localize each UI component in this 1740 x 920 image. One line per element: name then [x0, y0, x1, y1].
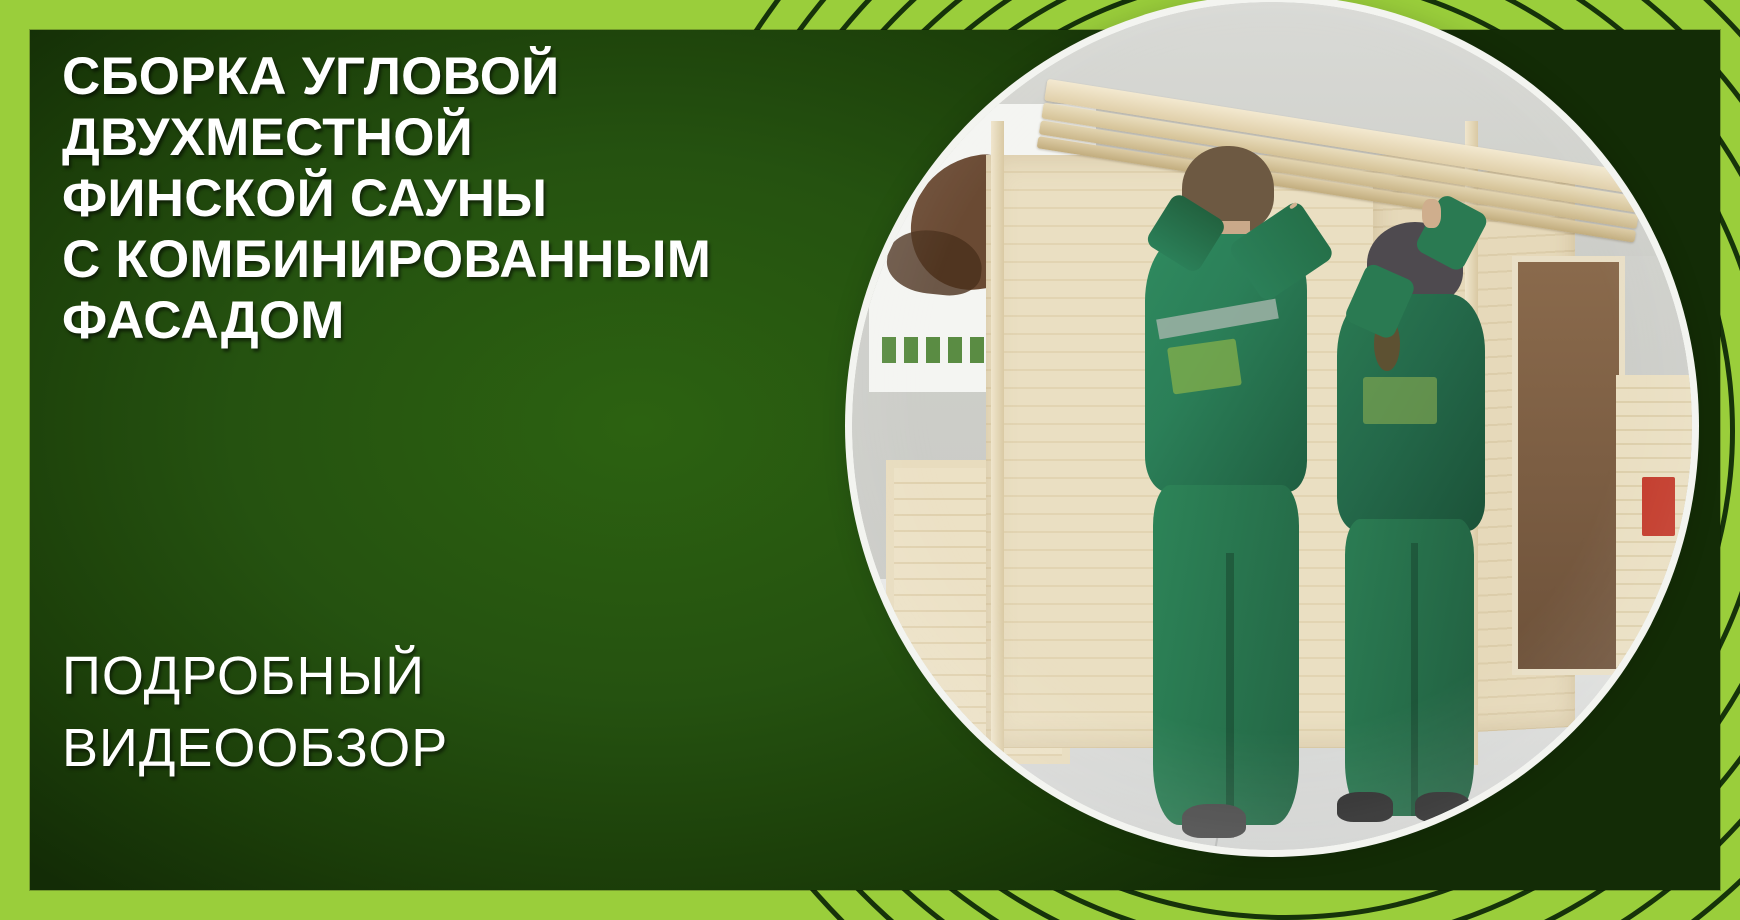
subheadline-line: ПОДРОБНЫЙ — [62, 640, 762, 712]
headline-line: СБОРКА УГЛОВОЙ — [62, 46, 822, 107]
headline-line: ДВУХМЕСТНОЙ — [62, 107, 822, 168]
subheadline: ПОДРОБНЫЙ ВИДЕООБЗОР — [62, 640, 762, 784]
headline-line: С КОМБИНИРОВАННЫМ — [62, 229, 822, 290]
photo-scene — [852, 2, 1692, 850]
photo-circle — [852, 2, 1692, 850]
headline-line: ФИНСКОЙ САУНЫ — [62, 168, 822, 229]
thumbnail-canvas: СБОРКА УГЛОВОЙ ДВУХМЕСТНОЙ ФИНСКОЙ САУНЫ… — [0, 0, 1740, 920]
subheadline-line: ВИДЕООБЗОР — [62, 712, 762, 784]
photo-vignette — [852, 2, 1692, 850]
headline-line: ФАСАДОМ — [62, 290, 822, 351]
headline: СБОРКА УГЛОВОЙ ДВУХМЕСТНОЙ ФИНСКОЙ САУНЫ… — [62, 46, 822, 351]
